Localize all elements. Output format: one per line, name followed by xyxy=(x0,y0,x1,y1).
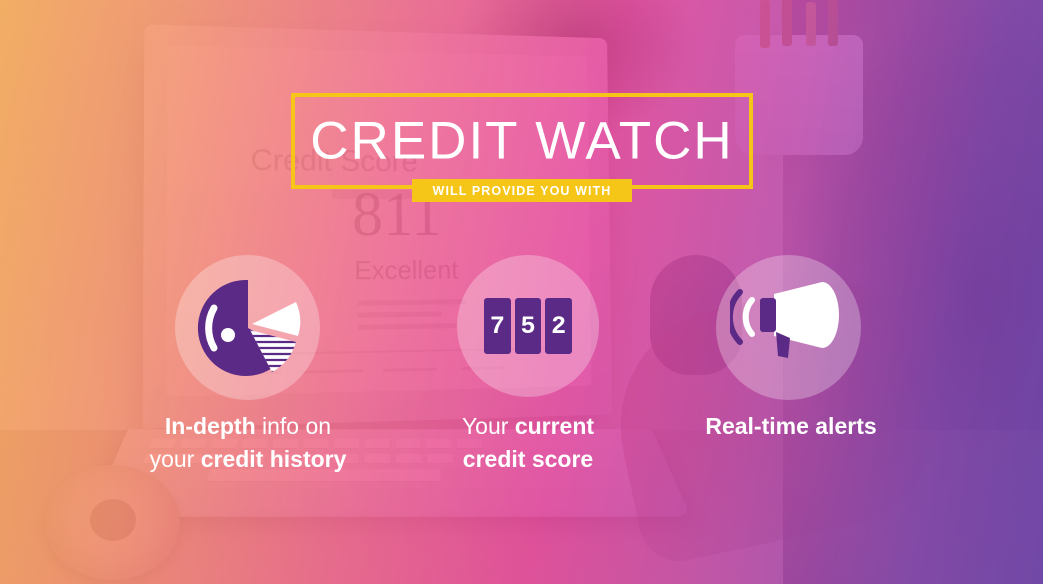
caption-bold: credit history xyxy=(201,446,347,472)
feature-caption-current-credit-score: Your current credit score xyxy=(378,410,678,476)
title-frame: CREDIT WATCH xyxy=(291,93,753,189)
caption-bold: credit score xyxy=(463,446,593,472)
feature-caption-real-time-alerts: Real-time alerts xyxy=(641,410,941,443)
megaphone-icon xyxy=(730,276,842,380)
score-digit: 7 xyxy=(484,298,511,354)
caption-normal: Your xyxy=(462,413,515,439)
caption-normal: info on xyxy=(256,413,331,439)
slide-root: Credit Score 811 Excellent xyxy=(0,0,1043,584)
pie-chart-icon xyxy=(192,272,304,384)
subtitle-text: WILL PROVIDE YOU WITH xyxy=(433,184,612,198)
feature-caption-in-depth-info: In-depth info on your credit history xyxy=(98,410,398,476)
score-digit: 2 xyxy=(545,298,572,354)
caption-bold: Real-time alerts xyxy=(705,413,876,439)
page-title: CREDIT WATCH xyxy=(295,111,749,172)
subtitle-banner: WILL PROVIDE YOU WITH xyxy=(412,179,632,202)
score-counter-icon: 7 5 2 xyxy=(484,298,572,354)
score-digit: 5 xyxy=(515,298,542,354)
caption-normal: your xyxy=(150,446,201,472)
caption-bold: In-depth xyxy=(165,413,256,439)
caption-bold: current xyxy=(515,413,594,439)
